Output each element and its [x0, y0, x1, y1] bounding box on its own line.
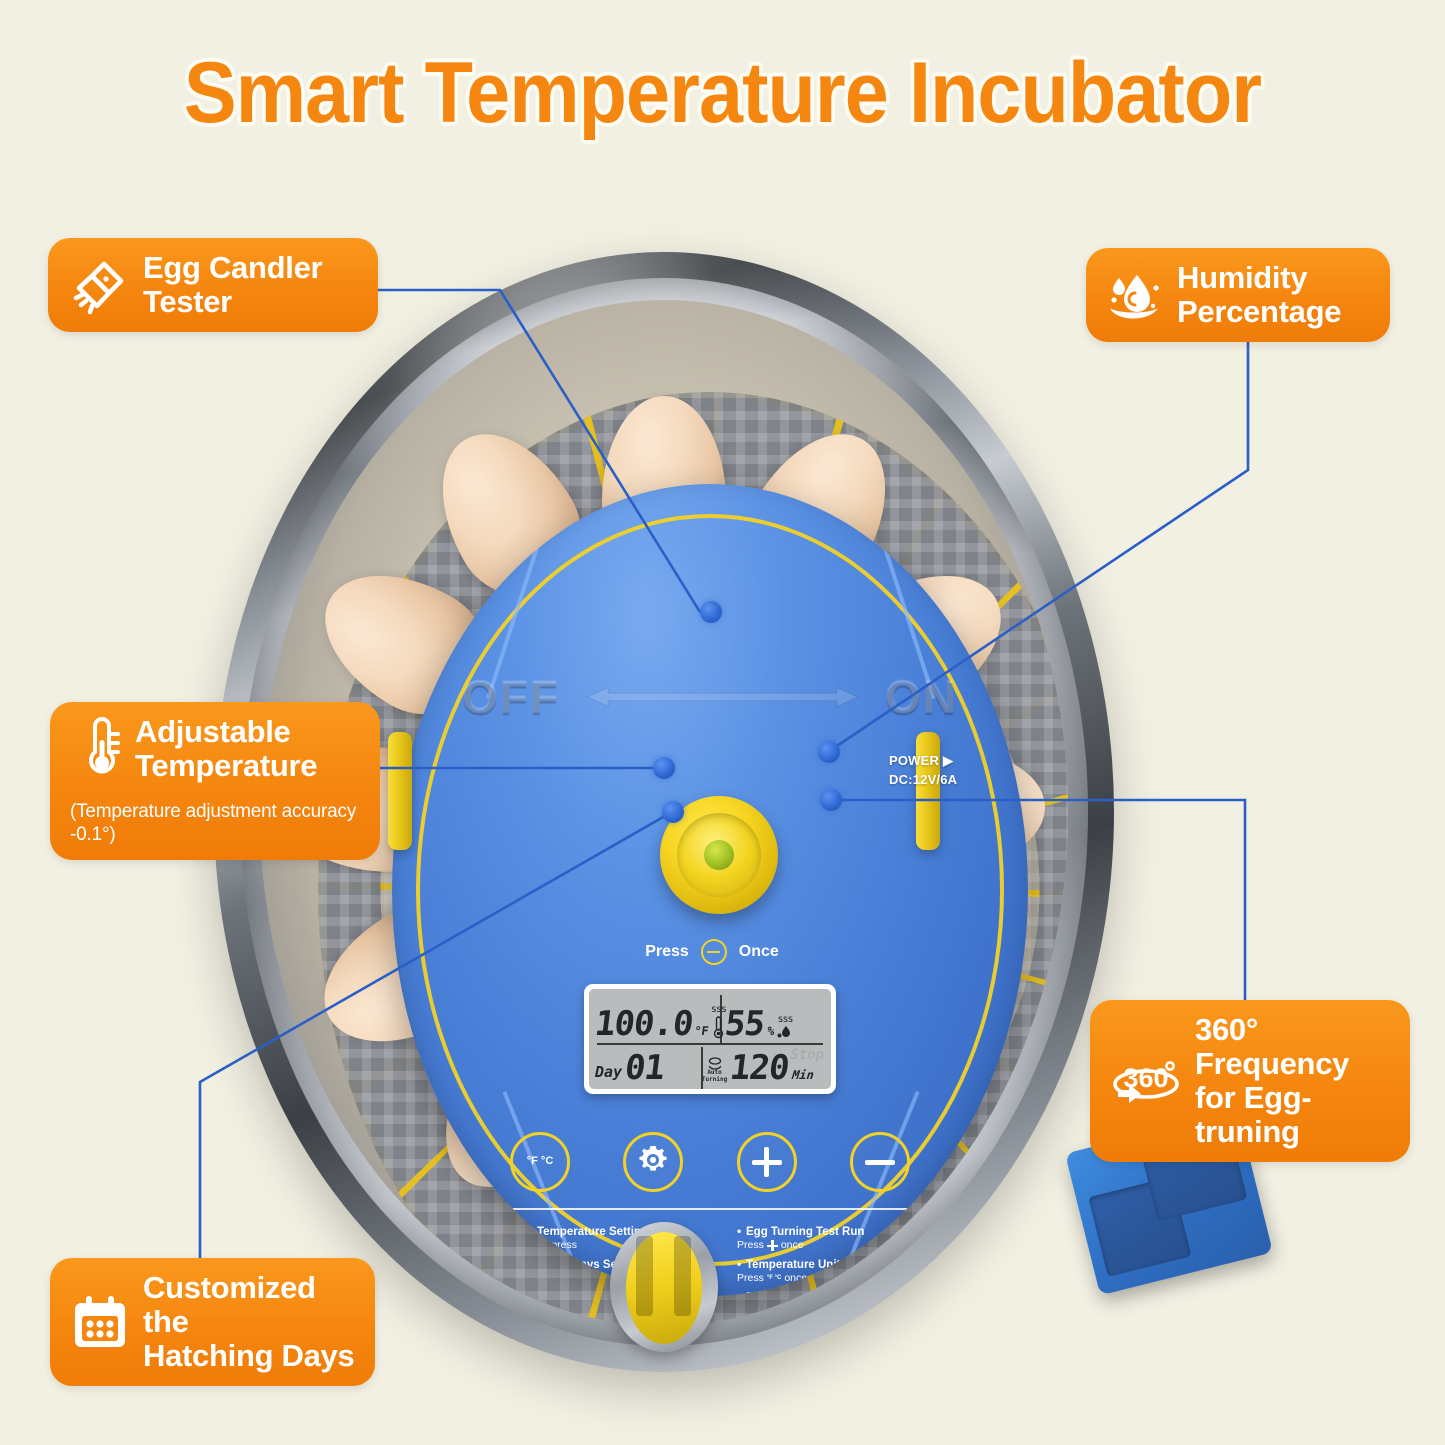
callout-humidity[interactable]: Humidity Percentage [1086, 248, 1390, 342]
lcd-row-top: 100.0 °F sss [589, 989, 831, 1043]
plus-icon [767, 1240, 778, 1251]
callout-egg-candler-label: Egg Candler Tester [143, 251, 322, 319]
power-line: POWER ▶ [889, 752, 957, 771]
power-spec: DC:12V/6A [889, 771, 957, 790]
instruction-item: Temperature Unit Switch Press °F °C once [737, 1259, 936, 1285]
water-drop-icon [1106, 266, 1164, 324]
tray-handle-left [388, 732, 412, 850]
celsius-label: °C [775, 1275, 782, 1281]
instruction-divider [502, 1208, 920, 1210]
thermometer-icon [70, 716, 122, 782]
callout-temperature-row: Adjustable Temperature [70, 715, 317, 783]
leader-dot-days [662, 801, 684, 823]
tray-handle-right [916, 732, 940, 850]
press-once-hint: Press Once [602, 939, 822, 965]
instruction-title: Egg Turning Test Run [737, 1226, 936, 1239]
celsius-label: °C [541, 1155, 553, 1167]
calendar-icon [70, 1292, 130, 1352]
instruction-item: Egg Turning Test Run Press once [737, 1226, 936, 1252]
on-label: ON [885, 670, 958, 724]
lcd-display: 100.0 °F sss [584, 984, 836, 1094]
lcd-day-cell: Day 01 [589, 1044, 698, 1089]
lcd-screen: 100.0 °F sss [589, 989, 831, 1089]
press-label: Press [645, 943, 689, 961]
candler-led-icon [704, 840, 734, 870]
turning-label: Turning [702, 1077, 727, 1083]
fahrenheit-label: °F [767, 1275, 773, 1281]
off-on-indicator: OFF ON [462, 670, 958, 724]
callout-hatching-days-label: Customized the Hatching Days [143, 1271, 355, 1373]
off-label: OFF [462, 670, 560, 724]
instruction-column-right: Egg Turning Test Run Press once Temperat… [737, 1226, 936, 1296]
power-text: POWER [889, 753, 939, 768]
callout-hatching-days[interactable]: Customized the Hatching Days [50, 1258, 375, 1386]
press-word: Press [737, 1272, 764, 1285]
instruction-title: Temperature Unit Switch [737, 1259, 936, 1272]
power-arrow-icon: ▶ [943, 753, 953, 768]
svg-text:360: 360 [1123, 1063, 1168, 1093]
leader-dot-humidity [818, 741, 840, 763]
press-word: Press [737, 1239, 764, 1252]
infographic-canvas: Smart Temperature Incubator [0, 0, 1445, 1445]
instruction-title: Reset Incubator [737, 1292, 936, 1296]
callout-humidity-label: Humidity Percentage [1177, 261, 1341, 329]
lcd-day-label: Day [595, 1063, 622, 1085]
humidity-waves-label: sss [777, 1015, 792, 1025]
settings-button[interactable] [623, 1132, 683, 1192]
fill-port-slot-right [674, 1236, 691, 1316]
increase-button[interactable] [737, 1132, 797, 1192]
minus-icon [865, 1160, 895, 1165]
callout-temperature-sub: (Temperature adjustment accuracy -0.1°) [70, 801, 360, 847]
lcd-interval-value: 120 [728, 1052, 790, 1085]
fill-port-slot-left [636, 1236, 653, 1316]
callout-egg-turning-label: 360° Frequency for Egg-truning [1195, 1013, 1390, 1149]
control-button-row: °F °C [510, 1132, 910, 1192]
lcd-humidity-cell: 55 % sss [715, 989, 831, 1043]
minus-icon [701, 939, 727, 965]
auto-turning-icon: Auto Turning [702, 1057, 727, 1085]
gear-icon [636, 1143, 670, 1182]
once-word: once [784, 1272, 807, 1285]
fahrenheit-label: °F [527, 1155, 538, 1167]
once-label: Once [739, 943, 779, 961]
callout-egg-candler[interactable]: Egg Candler Tester [48, 238, 378, 332]
callout-adjustable-temperature[interactable]: Adjustable Temperature (Temperature adju… [50, 702, 380, 860]
fahrenheit-celsius-switch-icon: °F °C [527, 1156, 554, 1168]
fahrenheit-celsius-switch-icon: °F °C [767, 1275, 781, 1281]
callout-egg-turning[interactable]: 360 360° Frequency for Egg-truning [1090, 1000, 1410, 1162]
lcd-temperature-cell: 100.0 °F sss [589, 989, 715, 1043]
lcd-stop-label: Stop [790, 1047, 824, 1063]
once-word: once [781, 1239, 804, 1252]
360-rotation-icon: 360 [1110, 1054, 1182, 1108]
instruction-columns: Temperature Setting First press Hatch Da… [528, 1226, 936, 1296]
leader-dot-candler [700, 601, 722, 623]
page-title: Smart Temperature Incubator [58, 44, 1387, 143]
leader-dot-turning [820, 789, 842, 811]
unit-switch-button[interactable]: °F °C [510, 1132, 570, 1192]
lcd-day-value: 01 [623, 1052, 666, 1085]
power-label: POWER ▶ DC:12V/6A [889, 752, 957, 790]
instruction-gear-icon [488, 1226, 522, 1296]
instruction-item: Reset Incubator Press and 3sec. [737, 1292, 936, 1296]
instruction-detail: Press once [737, 1239, 936, 1252]
lcd-humidity-value: 55 [723, 1008, 766, 1041]
flashlight-icon [68, 254, 130, 316]
lcd-temperature-value: 100.0 [593, 1008, 694, 1041]
leader-dot-temperature [653, 757, 675, 779]
callout-temperature-label: Adjustable Temperature [135, 715, 317, 783]
lcd-temperature-unit: °F [693, 1024, 710, 1041]
lcd-humidity-unit: % [766, 1024, 775, 1041]
decrease-button[interactable] [850, 1132, 910, 1192]
water-fill-port[interactable] [610, 1222, 718, 1352]
direction-arrow-icon [570, 682, 875, 712]
instruction-detail: Press °F °C once [737, 1272, 936, 1285]
water-drop-icon: sss [777, 1015, 793, 1041]
lcd-interval-unit: Min [791, 1068, 815, 1085]
